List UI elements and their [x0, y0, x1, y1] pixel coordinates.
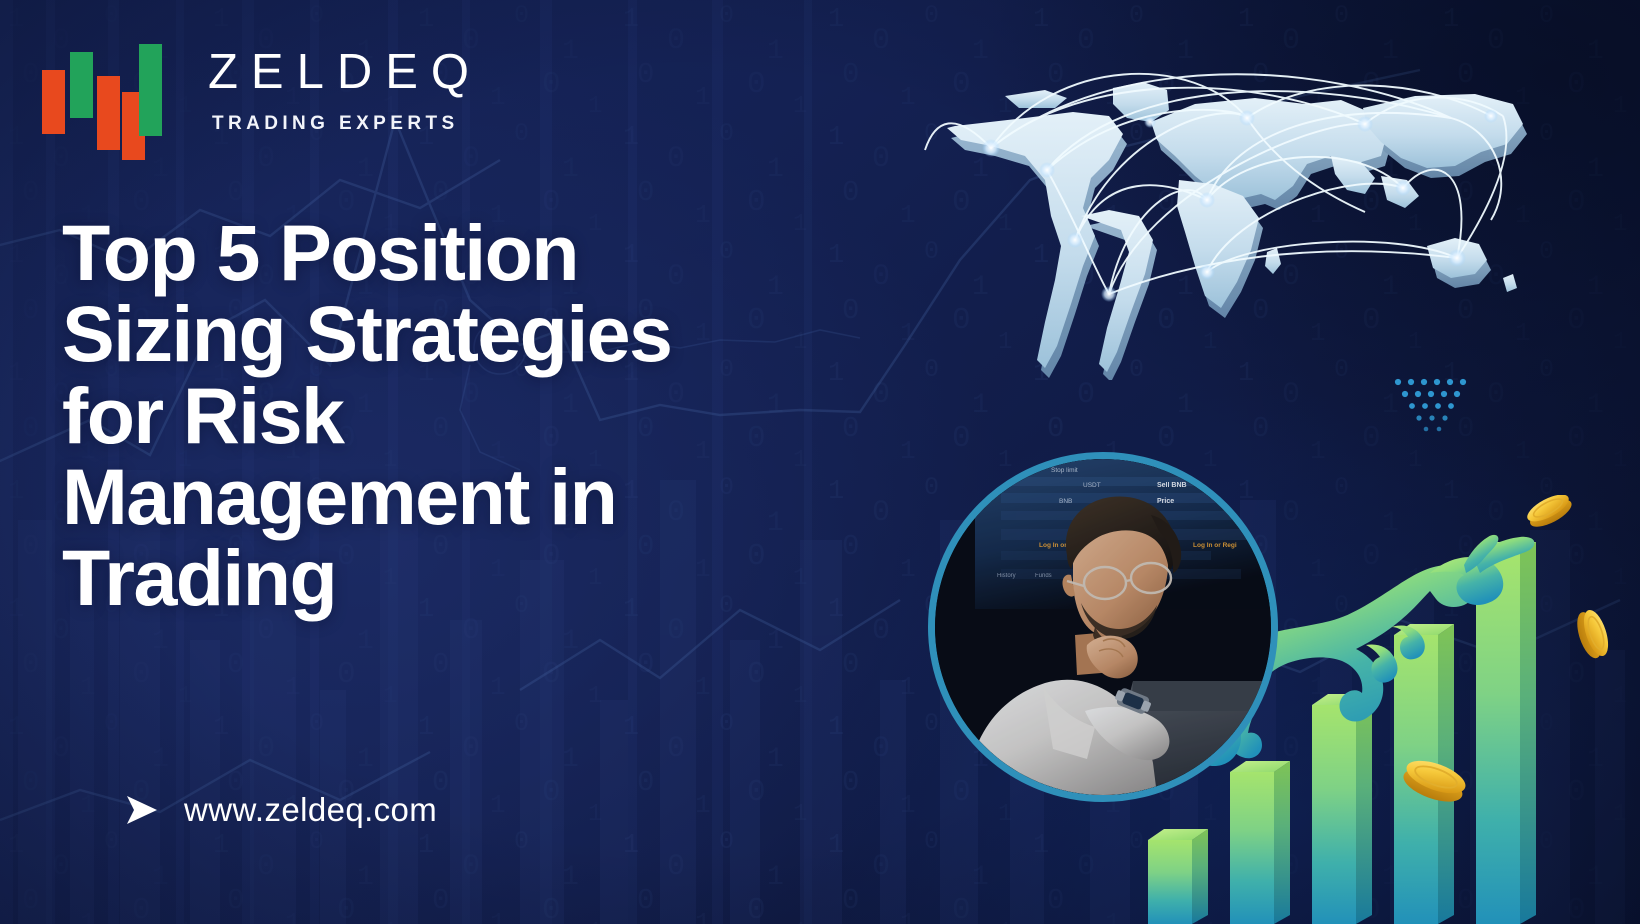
- bar-3: [1312, 694, 1372, 924]
- gold-coin-icon: [1523, 495, 1575, 532]
- play-triangle-icon: [125, 794, 159, 826]
- trader-at-laptop-photo: Stop limit USDT BNB USDT Sell BNB Price …: [928, 452, 1278, 802]
- headline-line-5: Trading: [62, 537, 882, 618]
- banner-root: 1 0 0 1 0 1 0 1: [0, 0, 1640, 924]
- headline-line-4: Management in: [62, 456, 882, 537]
- world-connections-map: [895, 60, 1535, 380]
- website-url-row[interactable]: www.zeldeq.com: [125, 793, 437, 826]
- bar-1: [1148, 827, 1208, 924]
- brand-logo[interactable]: ZELDEQ TRADING EXPERTS: [40, 40, 460, 158]
- candlestick-bars-logo-mark: [40, 44, 162, 160]
- headline-line-2: Sizing Strategies: [62, 293, 882, 374]
- website-url-text: www.zeldeq.com: [184, 793, 437, 826]
- brand-name: ZELDEQ: [208, 48, 482, 97]
- headline-line-1: Top 5 Position: [62, 212, 882, 293]
- dot-grid-accent: [1392, 376, 1476, 438]
- brand-tagline: TRADING EXPERTS: [212, 114, 482, 133]
- headline: Top 5 Position Sizing Strategies for Ris…: [62, 212, 882, 619]
- gold-coin-icon: [1572, 607, 1613, 661]
- brand-logo-text: ZELDEQ TRADING EXPERTS: [208, 48, 482, 133]
- headline-line-3: for Risk: [62, 375, 882, 456]
- photo-content: Stop limit USDT BNB USDT Sell BNB Price …: [935, 459, 1271, 795]
